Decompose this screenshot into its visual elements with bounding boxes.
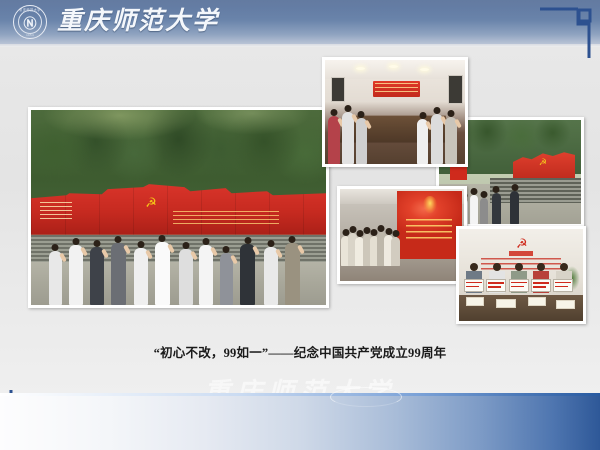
- scene-crowd: [31, 215, 326, 305]
- crowd-person: [49, 251, 62, 305]
- crowd-person: [220, 253, 233, 305]
- footer-bar-highlight: [0, 393, 600, 396]
- photo-red-screen-ceremony-content: [340, 189, 464, 281]
- person-raised-arm: [190, 251, 198, 261]
- crowd-person: [356, 118, 367, 164]
- person-head: [115, 236, 122, 243]
- header-underline: [0, 44, 600, 47]
- person-head: [419, 112, 426, 119]
- person-raised-arm: [455, 119, 463, 129]
- sign-line: [511, 282, 527, 284]
- person-head: [344, 105, 351, 112]
- person-head: [511, 184, 518, 191]
- crowd-person: [179, 249, 193, 305]
- scene-tree-highlight: [31, 110, 326, 165]
- sign-line: [488, 286, 501, 288]
- person-raised-arm: [59, 253, 67, 263]
- paper-stack: [528, 297, 546, 306]
- person-head: [358, 111, 365, 118]
- person-raised-arm: [123, 245, 131, 255]
- wall-title-band: [509, 251, 534, 256]
- wall-picture-frame: [331, 77, 346, 102]
- crowd-person: [199, 245, 213, 305]
- crowd-person: [155, 242, 170, 305]
- crowd-person: [134, 248, 148, 305]
- scene-attendees: [340, 226, 400, 266]
- red-banner: [373, 81, 421, 98]
- photo-group-holding-signs[interactable]: ☭: [456, 226, 586, 324]
- person-head: [52, 244, 59, 251]
- person-head: [73, 238, 80, 245]
- person-head: [471, 188, 478, 195]
- university-seal-icon: 重庆师范大学 Ⓝ 1954: [13, 5, 47, 39]
- footer-swoosh-accent: [330, 387, 402, 407]
- crowd-person: [417, 119, 428, 164]
- person-head: [385, 228, 392, 235]
- wall-picture-frame: [448, 75, 463, 104]
- person-head: [244, 237, 251, 244]
- slogan-sign: [464, 279, 484, 292]
- person-head: [493, 186, 500, 193]
- person-head: [378, 225, 385, 232]
- sign-line: [488, 282, 504, 284]
- person-raised-arm: [297, 245, 305, 255]
- paper-stack: [496, 299, 516, 308]
- scene-ceiling: [325, 60, 465, 79]
- crowd-person: [328, 116, 340, 164]
- person-raised-arm: [230, 255, 238, 265]
- photo-indoor-oath-meeting-content: [325, 60, 465, 164]
- red-led-screen: [397, 191, 461, 259]
- party-emblem-icon: ☭: [539, 157, 547, 168]
- paper-stack: [466, 297, 484, 306]
- crowd-person: [510, 191, 519, 224]
- header-band: 重庆师范大学 Ⓝ 1954 重庆师范大学: [0, 0, 600, 44]
- sign-line: [533, 286, 546, 288]
- sign-line: [511, 286, 524, 288]
- person-raised-arm: [210, 247, 218, 257]
- sign-line: [533, 282, 549, 284]
- crowd-person: [285, 243, 300, 305]
- crowd-person: [90, 247, 104, 305]
- paper-stack: [556, 300, 575, 309]
- person-head: [560, 263, 568, 271]
- slogan-sign: [486, 279, 506, 292]
- person-head: [434, 107, 441, 114]
- person-head: [94, 240, 101, 247]
- footer-bar: [0, 393, 600, 450]
- person-raised-arm: [145, 250, 153, 260]
- sign-line: [466, 286, 479, 288]
- person-head: [203, 238, 210, 245]
- red-banner-text: [375, 83, 419, 96]
- crowd-person: [480, 198, 488, 224]
- crowd-person: [111, 243, 126, 305]
- sign-line: [466, 282, 482, 284]
- crowd-person: [240, 244, 255, 305]
- crowd-person: [431, 114, 443, 164]
- person-head: [182, 242, 189, 249]
- person-head: [493, 263, 501, 271]
- person-raised-arm: [253, 246, 261, 256]
- photo-oath-at-red-monument-content: ☭: [31, 110, 326, 305]
- person-raised-arm: [101, 249, 109, 259]
- scene-attendees: [325, 102, 465, 164]
- corner-ornament-top-right: [538, 4, 594, 60]
- sign-line: [555, 286, 568, 288]
- crowd-person: [69, 245, 83, 305]
- presentation-slide: 重庆师范大学 Ⓝ 1954 重庆师范大学: [0, 0, 600, 450]
- person-head: [515, 263, 523, 271]
- slogan-sign: [509, 279, 529, 292]
- red-screen-text: [406, 219, 452, 242]
- crowd-person: [470, 195, 478, 224]
- corner-ornament-top-right-icon: [538, 4, 594, 60]
- person-head: [330, 109, 337, 116]
- person-head: [537, 263, 545, 271]
- slogan-sign: [531, 279, 551, 292]
- crowd-person: [391, 237, 400, 266]
- slide-caption: “初心不改，99如一”——纪念中国共产党成立99周年: [0, 342, 600, 361]
- page-title: 重庆师范大学: [57, 5, 219, 39]
- seal-arc-bottom-text: 1954: [13, 33, 47, 37]
- crowd-person: [342, 112, 354, 164]
- person-head: [349, 226, 356, 233]
- party-emblem-icon: ☭: [143, 196, 159, 210]
- sign-line: [555, 282, 571, 284]
- photo-indoor-oath-meeting[interactable]: [322, 57, 468, 167]
- person-raised-arm: [275, 249, 283, 259]
- photo-oath-at-red-monument[interactable]: ☭: [28, 107, 329, 308]
- person-head: [470, 263, 478, 271]
- person-raised-arm: [167, 244, 175, 254]
- person-raised-arm: [80, 247, 88, 257]
- person-head: [268, 240, 275, 247]
- photo-group-holding-signs-content: ☭: [459, 229, 583, 321]
- slogan-sign: [553, 279, 573, 292]
- person-head: [481, 191, 488, 198]
- person-head: [159, 235, 166, 242]
- person-head: [392, 230, 399, 237]
- person-head: [289, 236, 296, 243]
- torch-emblem-icon: [423, 196, 437, 214]
- party-emblem-icon: ☭: [516, 236, 528, 252]
- photo-red-screen-ceremony[interactable]: [337, 186, 467, 284]
- person-head: [448, 110, 455, 117]
- person-raised-arm: [364, 120, 372, 130]
- person-head: [138, 241, 145, 248]
- person-head: [364, 227, 371, 234]
- crowd-person: [445, 117, 457, 164]
- crowd-person: [264, 247, 278, 305]
- person-head: [223, 246, 230, 253]
- crowd-person: [492, 193, 501, 224]
